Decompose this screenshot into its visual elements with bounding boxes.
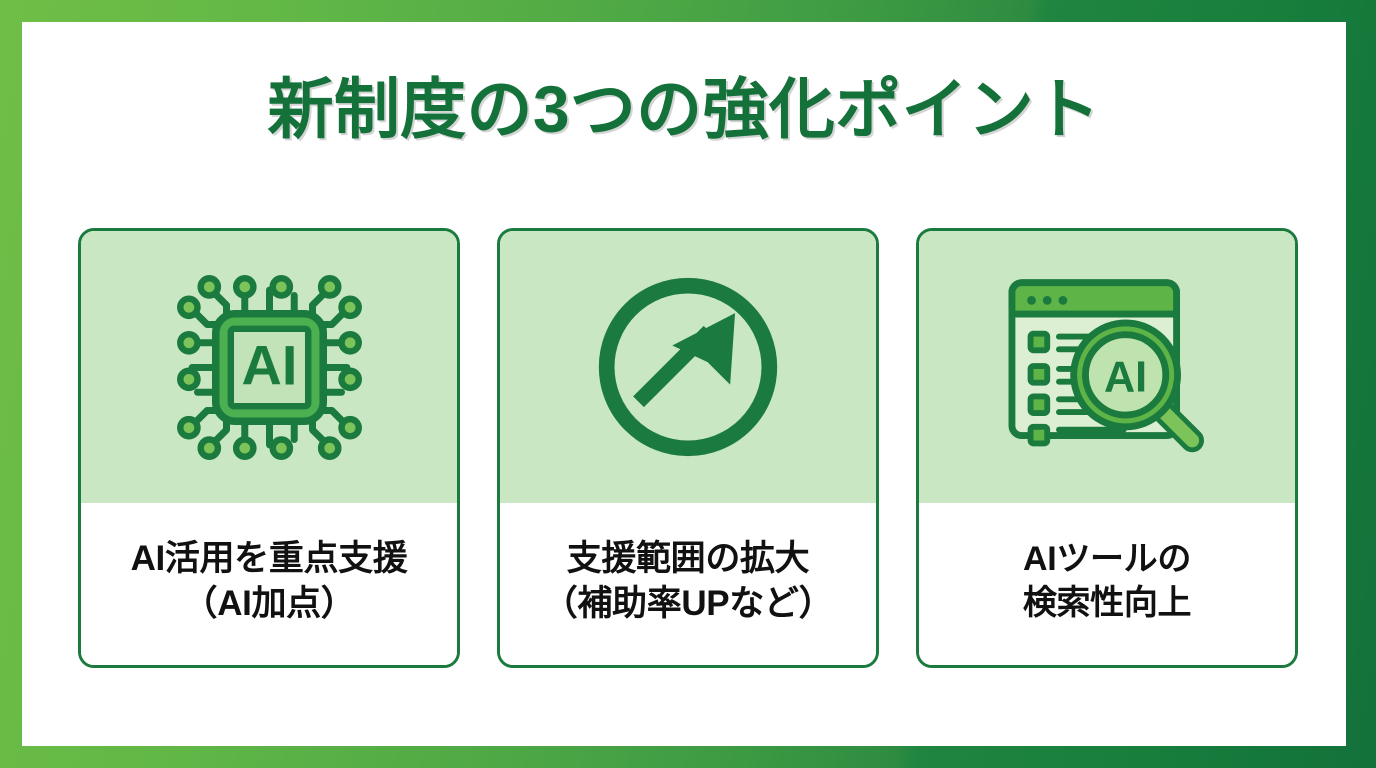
page-title: 新制度の3つの強化ポイント (22, 72, 1346, 148)
ai-search-window-icon: AI (998, 269, 1216, 465)
svg-text:AI: AI (241, 333, 297, 396)
card-icon-area (500, 231, 876, 503)
content-panel: 新制度の3つの強化ポイント (22, 22, 1346, 746)
svg-text:AI: AI (1104, 354, 1147, 402)
card-icon-area: AI (919, 231, 1295, 503)
point-card-ai-priority[interactable]: AI AI活用を重点支援 （AI加点） (78, 228, 460, 668)
card-label-area: AIツールの 検索性向上 (919, 503, 1295, 665)
card-icon-area: AI (81, 231, 457, 503)
card-label-line-2: （AI加点） (183, 581, 356, 627)
circle-growth-arrow-icon (590, 269, 786, 465)
point-card-ai-tool-search[interactable]: AI AIツールの 検索性向上 (916, 228, 1298, 668)
card-label-line-1: AIツールの (1023, 537, 1191, 581)
card-label-line-2: 検索性向上 (1023, 581, 1191, 625)
slide-background: 新制度の3つの強化ポイント (0, 0, 1376, 768)
points-card-row: AI AI活用を重点支援 （AI加点） (78, 228, 1298, 668)
card-label-line-2: （補助率UPなど） (543, 581, 833, 627)
card-label-line-1: AI活用を重点支援 (131, 536, 408, 582)
card-label-area: AI活用を重点支援 （AI加点） (81, 503, 457, 665)
card-label-line-1: 支援範囲の拡大 (567, 536, 810, 582)
point-card-scope-expansion[interactable]: 支援範囲の拡大 （補助率UPなど） (497, 228, 879, 668)
ai-chip-icon: AI (162, 260, 377, 475)
card-label-area: 支援範囲の拡大 （補助率UPなど） (500, 503, 876, 665)
